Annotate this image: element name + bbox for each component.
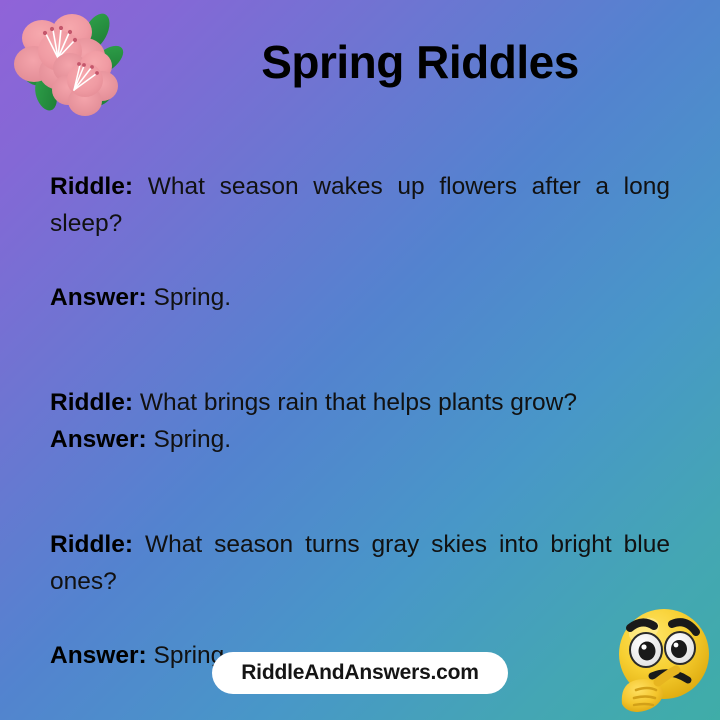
riddle-label: Riddle:: [50, 173, 133, 200]
riddle-label: Riddle:: [50, 389, 133, 416]
page-title: Spring Riddles: [140, 36, 700, 89]
riddle-text: What season turns gray skies into bright…: [50, 531, 670, 595]
riddle-list: Riddle: What season wakes up flowers aft…: [50, 168, 670, 674]
thinking-face-icon: [606, 600, 718, 718]
answer-label: Answer:: [50, 284, 147, 311]
riddle-answer-line: Answer: Spring.: [50, 279, 670, 316]
riddle-question-line: Riddle: What season wakes up flowers aft…: [50, 168, 670, 279]
site-name-text: RiddleAndAnswers.com: [241, 661, 479, 685]
riddle-text: What season wakes up flowers after a lon…: [50, 173, 670, 237]
riddle-question-line: Riddle: What brings rain that helps plan…: [50, 384, 670, 421]
answer-label: Answer:: [50, 426, 147, 453]
riddle-answer-line: Answer: Spring.: [50, 421, 670, 458]
answer-label: Answer:: [50, 642, 147, 669]
answer-text: Spring.: [153, 284, 231, 311]
riddle-item: Riddle: What season wakes up flowers aft…: [50, 168, 670, 316]
riddle-poster: Spring Riddles Riddle: What season wakes…: [0, 0, 720, 720]
riddle-question-line: Riddle: What season turns gray skies int…: [50, 526, 670, 637]
answer-text: Spring.: [153, 426, 231, 453]
blossom-flower-icon: [8, 8, 126, 118]
riddle-item: Riddle: What brings rain that helps plan…: [50, 384, 670, 458]
riddle-text: What brings rain that helps plants grow?: [140, 389, 577, 416]
site-badge[interactable]: RiddleAndAnswers.com: [212, 652, 508, 694]
riddle-label: Riddle:: [50, 531, 133, 558]
